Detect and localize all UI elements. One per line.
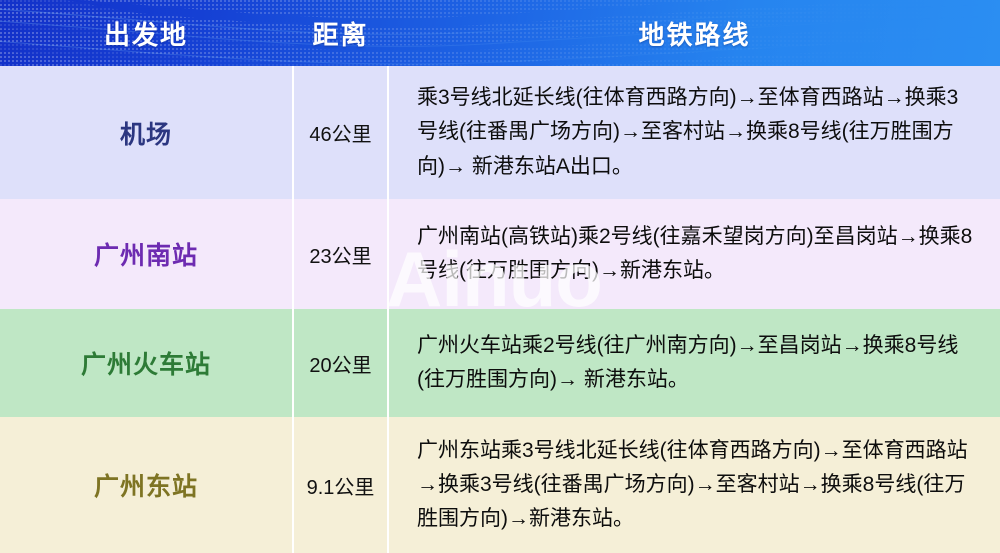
table-row: 广州东站 9.1公里 广州东站乘3号线北延长线(往体育西路方向)→至体育西路站→… — [0, 417, 1000, 553]
cell-origin: 广州南站 — [0, 199, 292, 309]
column-header-distance: 距离 — [292, 0, 389, 66]
cell-route: 广州南站(高铁站)乘2号线(往嘉禾望岗方向)至昌岗站→换乘8号线(往万胜围方向)… — [389, 199, 1000, 309]
table-row: 广州火车站 20公里 广州火车站乘2号线(往广州南方向)→至昌岗站→换乘8号线(… — [0, 309, 1000, 417]
cell-distance: 46公里 — [292, 66, 389, 199]
cell-origin: 机场 — [0, 66, 292, 199]
cell-distance: 9.1公里 — [292, 417, 389, 553]
cell-origin: 广州火车站 — [0, 309, 292, 417]
cell-distance: 20公里 — [292, 309, 389, 417]
column-header-origin: 出发地 — [0, 0, 292, 66]
cell-route: 乘3号线北延长线(往体育西路方向)→至体育西路站→换乘3号线(往番禺广场方向)→… — [389, 66, 1000, 199]
table-body: 机场 46公里 乘3号线北延长线(往体育西路方向)→至体育西路站→换乘3号线(往… — [0, 66, 1000, 553]
table-header-row: 出发地 距离 地铁路线 — [0, 0, 1000, 66]
cell-route: 广州东站乘3号线北延长线(往体育西路方向)→至体育西路站→换乘3号线(往番禺广场… — [389, 417, 1000, 553]
cell-distance: 23公里 — [292, 199, 389, 309]
table-row: 机场 46公里 乘3号线北延长线(往体育西路方向)→至体育西路站→换乘3号线(往… — [0, 66, 1000, 199]
table-row: 广州南站 23公里 广州南站(高铁站)乘2号线(往嘉禾望岗方向)至昌岗站→换乘8… — [0, 199, 1000, 309]
cell-route: 广州火车站乘2号线(往广州南方向)→至昌岗站→换乘8号线(往万胜围方向)→ 新港… — [389, 309, 1000, 417]
cell-origin: 广州东站 — [0, 417, 292, 553]
metro-route-table: 出发地 距离 地铁路线 机场 46公里 乘3号线北延长线(往体育西路方向)→至体… — [0, 0, 1000, 553]
column-header-route: 地铁路线 — [389, 0, 1000, 66]
